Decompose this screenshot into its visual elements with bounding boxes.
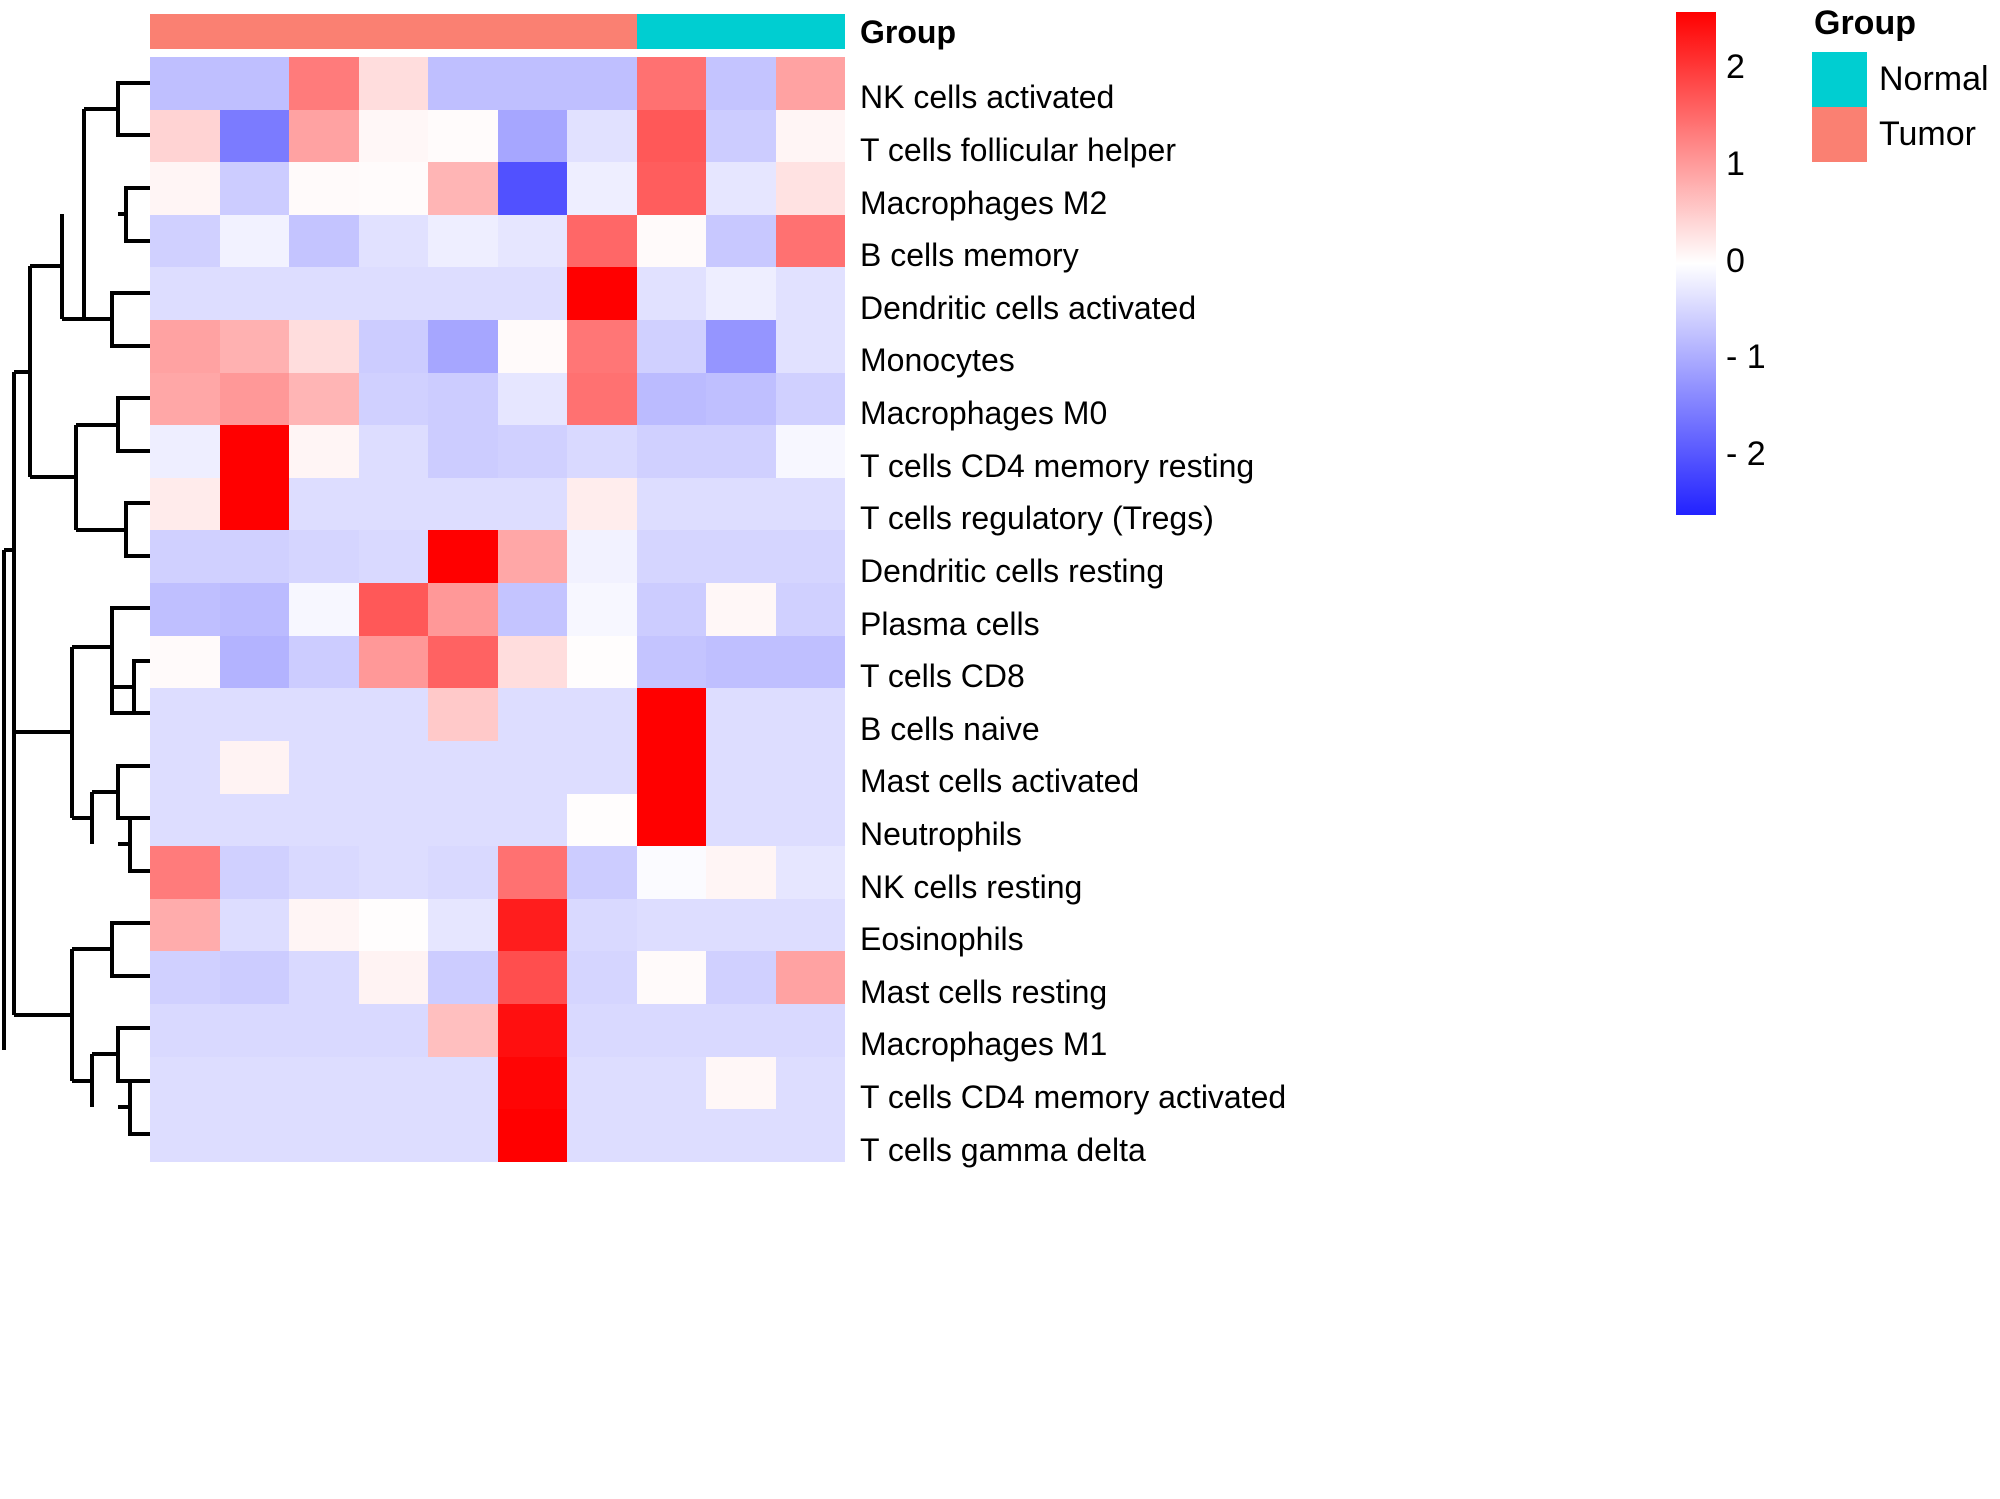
heatmap-cell	[567, 425, 637, 478]
heatmap-cell	[428, 1004, 498, 1057]
heatmap-cell	[706, 110, 776, 163]
heatmap-cell	[359, 478, 429, 531]
heatmap-cell	[359, 899, 429, 952]
heatmap-cell	[289, 373, 359, 426]
row-label: T cells follicular helper	[860, 134, 1176, 166]
heatmap-cell	[776, 57, 846, 110]
heatmap-cell	[776, 636, 846, 689]
heatmap-cell	[220, 530, 290, 583]
heatmap-cell	[567, 846, 637, 899]
heatmap-cell	[706, 846, 776, 899]
heatmap-cell	[498, 846, 568, 899]
heatmap-cell	[498, 583, 568, 636]
heatmap-cell	[428, 741, 498, 794]
heatmap-cell	[428, 162, 498, 215]
heatmap-cell	[706, 478, 776, 531]
group-legend-label: Tumor	[1879, 115, 1976, 154]
colorbar-tick-label: 2	[1726, 50, 1745, 84]
heatmap-cell	[428, 110, 498, 163]
heatmap-cell	[498, 1109, 568, 1162]
heatmap-cell	[289, 794, 359, 847]
heatmap-cell	[289, 1004, 359, 1057]
heatmap-cell	[637, 583, 707, 636]
heatmap-cell	[150, 636, 220, 689]
heatmap-cell	[776, 741, 846, 794]
heatmap-cell	[359, 951, 429, 1004]
heatmap-cell	[637, 530, 707, 583]
heatmap-cell	[359, 583, 429, 636]
heatmap-cell	[776, 110, 846, 163]
heatmap-cell	[220, 1057, 290, 1110]
heatmap-cell	[359, 741, 429, 794]
heatmap-cell	[498, 1057, 568, 1110]
heatmap-cell	[359, 373, 429, 426]
heatmap-cell	[220, 267, 290, 320]
heatmap-cell	[498, 951, 568, 1004]
heatmap-cell	[776, 899, 846, 952]
heatmap-cell	[359, 1109, 429, 1162]
row-label: T cells gamma delta	[860, 1134, 1146, 1166]
heatmap-cell	[220, 951, 290, 1004]
heatmap-cell	[567, 741, 637, 794]
heatmap-cell	[567, 478, 637, 531]
heatmap-cell	[428, 846, 498, 899]
heatmap-cell	[706, 951, 776, 1004]
heatmap-cell	[637, 425, 707, 478]
heatmap-cell	[567, 636, 637, 689]
row-label: Dendritic cells activated	[860, 292, 1196, 324]
heatmap-cell	[359, 794, 429, 847]
heatmap-cell	[706, 583, 776, 636]
heatmap-cell	[567, 373, 637, 426]
heatmap-cell	[150, 583, 220, 636]
heatmap-cell	[498, 741, 568, 794]
heatmap-cell	[428, 57, 498, 110]
heatmap-cell	[428, 951, 498, 1004]
heatmap-cell	[567, 110, 637, 163]
heatmap-panel	[150, 14, 845, 1162]
heatmap-cell	[428, 373, 498, 426]
row-label: Mast cells activated	[860, 765, 1139, 797]
row-label: Dendritic cells resting	[860, 555, 1164, 587]
heatmap-cell	[637, 1057, 707, 1110]
heatmap-cell	[637, 899, 707, 952]
row-label: Plasma cells	[860, 608, 1040, 640]
heatmap-cell	[150, 1109, 220, 1162]
heatmap-cell	[637, 215, 707, 268]
row-label: NK cells resting	[860, 871, 1082, 903]
heatmap-cell	[289, 57, 359, 110]
heatmap-cell	[498, 636, 568, 689]
row-label: Eosinophils	[860, 923, 1024, 955]
heatmap-cell	[428, 1057, 498, 1110]
heatmap-cell	[776, 846, 846, 899]
heatmap-cell	[706, 425, 776, 478]
row-label: B cells naive	[860, 713, 1040, 745]
heatmap-cell	[567, 320, 637, 373]
row-label: B cells memory	[860, 239, 1079, 271]
heatmap-cell	[220, 636, 290, 689]
heatmap-cell	[776, 530, 846, 583]
heatmap-cell	[567, 57, 637, 110]
row-label: Monocytes	[860, 344, 1015, 376]
heatmap-cell	[150, 794, 220, 847]
heatmap-cell	[637, 110, 707, 163]
heatmap-cell	[706, 57, 776, 110]
heatmap-cell	[428, 636, 498, 689]
heatmap-cell	[567, 688, 637, 741]
heatmap-cell	[776, 1057, 846, 1110]
heatmap-cell	[706, 899, 776, 952]
heatmap-cell	[428, 215, 498, 268]
heatmap-cell	[220, 373, 290, 426]
heatmap-cell	[706, 267, 776, 320]
heatmap-cell	[289, 530, 359, 583]
heatmap-cell	[289, 110, 359, 163]
heatmap-cell	[776, 583, 846, 636]
heatmap-cell	[706, 794, 776, 847]
heatmap-cell	[359, 110, 429, 163]
heatmap-cell	[289, 688, 359, 741]
heatmap-cell	[776, 1109, 846, 1162]
heatmap-cell	[498, 57, 568, 110]
heatmap-cell	[706, 636, 776, 689]
heatmap-cell	[706, 741, 776, 794]
heatmap-cell	[498, 899, 568, 952]
heatmap-cell	[567, 215, 637, 268]
heatmap-cell	[498, 688, 568, 741]
row-label: Macrophages M2	[860, 187, 1107, 219]
group-annotation-bar	[150, 14, 845, 49]
heatmap-cell	[428, 425, 498, 478]
heatmap-cell	[150, 846, 220, 899]
heatmap-cell	[498, 267, 568, 320]
heatmap-cell	[637, 373, 707, 426]
heatmap-cell	[428, 478, 498, 531]
heatmap-cell	[706, 1057, 776, 1110]
heatmap-cell	[289, 951, 359, 1004]
heatmap-cell	[150, 951, 220, 1004]
heatmap-cell	[359, 688, 429, 741]
heatmap-cell	[150, 741, 220, 794]
heatmap-cell	[289, 478, 359, 531]
row-label: T cells CD4 memory resting	[860, 450, 1254, 482]
heatmap-cell	[289, 583, 359, 636]
heatmap-cell	[150, 1057, 220, 1110]
heatmap-cell	[428, 1109, 498, 1162]
heatmap-cell	[220, 846, 290, 899]
heatmap-cell	[428, 530, 498, 583]
heatmap-cell	[637, 688, 707, 741]
heatmap-cell	[359, 215, 429, 268]
heatmap-cell	[706, 373, 776, 426]
heatmap-cell	[150, 320, 220, 373]
heatmap-cell	[289, 899, 359, 952]
colorbar	[1676, 12, 1716, 515]
heatmap-cell	[150, 57, 220, 110]
heatmap-cell	[428, 320, 498, 373]
row-label: T cells CD8	[860, 660, 1025, 692]
heatmap-cell	[637, 320, 707, 373]
heatmap-cell	[220, 1109, 290, 1162]
heatmap-cell	[776, 951, 846, 1004]
heatmap-cell	[150, 530, 220, 583]
heatmap-cell	[637, 636, 707, 689]
heatmap-cell	[359, 320, 429, 373]
heatmap-cell	[706, 162, 776, 215]
heatmap-cell	[637, 741, 707, 794]
heatmap-cell	[776, 320, 846, 373]
heatmap-cell	[498, 215, 568, 268]
heatmap-cell	[359, 1057, 429, 1110]
group-legend-label: Normal	[1879, 60, 1989, 99]
heatmap-cell	[220, 583, 290, 636]
heatmap-cell	[776, 688, 846, 741]
group-annotation-normal	[637, 14, 846, 49]
heatmap-cell	[567, 1057, 637, 1110]
heatmap-cell	[776, 267, 846, 320]
heatmap-cell	[637, 1109, 707, 1162]
heatmap-cell	[637, 478, 707, 531]
heatmap-cell	[706, 320, 776, 373]
row-dendrogram	[0, 50, 150, 1165]
heatmap-cell	[359, 636, 429, 689]
heatmap-cell	[567, 794, 637, 847]
heatmap-cell	[567, 899, 637, 952]
group-legend-title: Group	[1814, 6, 2000, 40]
heatmap-cell	[567, 583, 637, 636]
heatmap-cell	[567, 1109, 637, 1162]
heatmap-cell	[359, 1004, 429, 1057]
heatmap-cell	[637, 794, 707, 847]
heatmap-cell	[220, 425, 290, 478]
heatmap-cell	[498, 110, 568, 163]
heatmap-cell	[150, 267, 220, 320]
heatmap-cell	[637, 846, 707, 899]
heatmap-cell	[637, 951, 707, 1004]
heatmap-cell	[220, 320, 290, 373]
heatmap-cell	[150, 425, 220, 478]
heatmap-cell	[567, 1004, 637, 1057]
heatmap-cell	[359, 846, 429, 899]
heatmap-cell	[498, 478, 568, 531]
group-legend-swatch	[1812, 52, 1867, 107]
heatmap-cell	[289, 215, 359, 268]
colorbar-tick-label: 1	[1726, 147, 1745, 181]
row-label: Mast cells resting	[860, 976, 1107, 1008]
heatmap-cell	[567, 951, 637, 1004]
heatmap-cell	[428, 899, 498, 952]
heatmap-cell	[498, 320, 568, 373]
group-legend-items: NormalTumor	[1812, 52, 2000, 162]
heatmap-cell	[150, 478, 220, 531]
heatmap-cell	[498, 162, 568, 215]
colorbar-tick-label: - 1	[1726, 340, 1766, 374]
heatmap-cell	[706, 688, 776, 741]
heatmap-cell	[220, 688, 290, 741]
heatmap-cell	[498, 425, 568, 478]
heatmap-cell	[776, 373, 846, 426]
heatmap-cell	[150, 899, 220, 952]
heatmap-cell	[220, 478, 290, 531]
heatmap-cell	[637, 1004, 707, 1057]
heatmap-cell	[289, 162, 359, 215]
heatmap-cell	[637, 57, 707, 110]
row-label: Macrophages M1	[860, 1028, 1107, 1060]
colorbar-tick-label: 0	[1726, 244, 1745, 278]
heatmap-cell	[428, 583, 498, 636]
heatmap-cell	[359, 267, 429, 320]
heatmap-cell	[220, 57, 290, 110]
heatmap-cell	[637, 162, 707, 215]
heatmap-cell	[359, 57, 429, 110]
group-legend: Group NormalTumor	[1812, 6, 2000, 162]
group-legend-swatch	[1812, 107, 1867, 162]
heatmap-cell	[150, 1004, 220, 1057]
annotation-title: Group	[860, 16, 956, 48]
heatmap-cell	[428, 688, 498, 741]
heatmap-cell	[498, 794, 568, 847]
row-label: Macrophages M0	[860, 397, 1107, 429]
heatmap-cell	[289, 1109, 359, 1162]
heatmap-cell	[567, 162, 637, 215]
heatmap-cell	[706, 530, 776, 583]
heatmap-cell	[498, 530, 568, 583]
row-label: T cells CD4 memory activated	[860, 1081, 1286, 1113]
heatmap-cell	[776, 794, 846, 847]
heatmap-cell	[220, 215, 290, 268]
heatmap-cell	[498, 1004, 568, 1057]
colorbar-tick-label: - 2	[1726, 437, 1766, 471]
heatmap-cell	[359, 425, 429, 478]
heatmap-cell	[150, 162, 220, 215]
heatmap-cell	[776, 425, 846, 478]
heatmap-cell	[706, 1109, 776, 1162]
heatmap-cell	[359, 530, 429, 583]
heatmap-cell	[706, 215, 776, 268]
heatmap-cell	[220, 162, 290, 215]
heatmap-cell	[150, 373, 220, 426]
heatmap-cell	[289, 741, 359, 794]
heatmap-cell	[220, 1004, 290, 1057]
heatmap-cell	[220, 110, 290, 163]
heatmap-cell	[706, 1004, 776, 1057]
heatmap-cell	[776, 215, 846, 268]
heatmap-cell	[289, 1057, 359, 1110]
heatmap-cell	[359, 162, 429, 215]
row-label: NK cells activated	[860, 81, 1114, 113]
heatmap-cell	[220, 794, 290, 847]
heatmap-cell	[289, 636, 359, 689]
heatmap-cell	[776, 1004, 846, 1057]
heatmap-cell	[637, 267, 707, 320]
row-label: T cells regulatory (Tregs)	[860, 502, 1214, 534]
group-legend-item[interactable]: Normal	[1812, 52, 2000, 107]
heatmap-cell	[776, 478, 846, 531]
heatmap-cell	[150, 688, 220, 741]
row-label: Neutrophils	[860, 818, 1022, 850]
heatmap-cell	[498, 373, 568, 426]
heatmap-cell	[150, 215, 220, 268]
group-legend-item[interactable]: Tumor	[1812, 107, 2000, 162]
heatmap-cell	[567, 267, 637, 320]
group-annotation-tumor	[150, 14, 637, 49]
heatmap-cell	[220, 741, 290, 794]
heatmap-grid	[150, 57, 845, 1162]
heatmap-cell	[428, 794, 498, 847]
heatmap-cell	[776, 162, 846, 215]
heatmap-cell	[567, 530, 637, 583]
heatmap-cell	[220, 899, 290, 952]
heatmap-cell	[289, 846, 359, 899]
heatmap-cell	[289, 267, 359, 320]
heatmap-cell	[150, 110, 220, 163]
heatmap-cell	[428, 267, 498, 320]
heatmap-cell	[289, 320, 359, 373]
heatmap-cell	[289, 425, 359, 478]
